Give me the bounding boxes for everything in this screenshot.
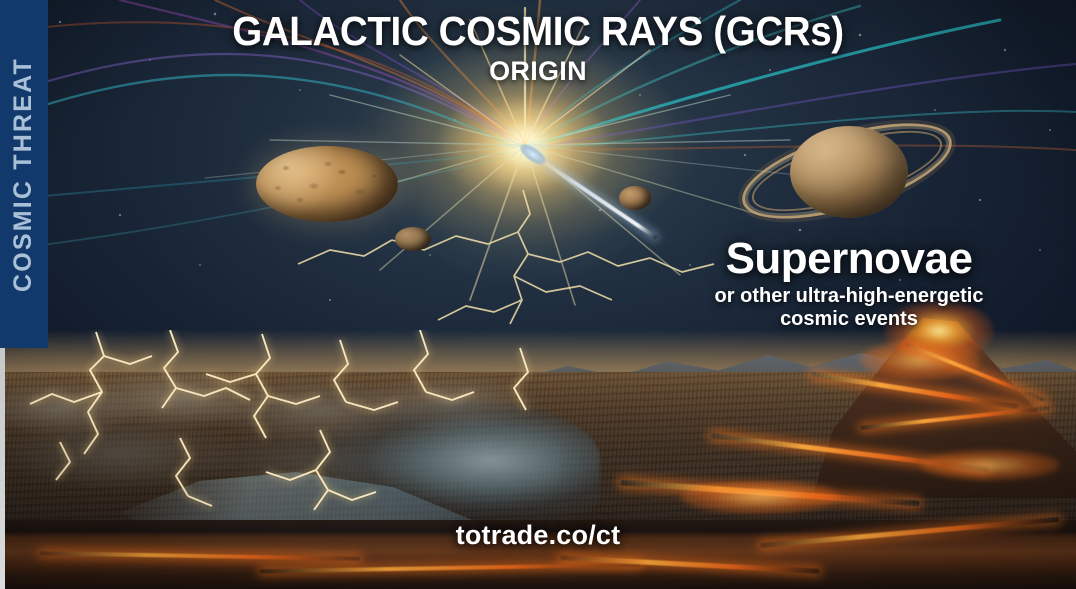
small-moon-left bbox=[395, 227, 431, 251]
callout-line-1: or other ultra-high-energetic bbox=[660, 285, 1038, 309]
url-text: totrade.co/ct bbox=[0, 520, 1076, 551]
callout-block: Supernovae or other ultra-high-energetic… bbox=[660, 236, 1038, 332]
saturn-body bbox=[790, 126, 908, 218]
cratered-moon bbox=[256, 146, 398, 222]
page-subtitle: ORIGIN bbox=[0, 56, 1076, 87]
callout-line-2: cosmic events bbox=[660, 308, 1038, 332]
page-title: GALACTIC COSMIC RAYS (GCRs) bbox=[32, 8, 1043, 55]
moon-craters bbox=[256, 146, 398, 222]
small-moon-right bbox=[619, 186, 651, 210]
saturn-planet bbox=[752, 104, 942, 236]
poster-root: COSMIC THREAT GALACTIC COSMIC RAYS (GCRs… bbox=[0, 0, 1076, 589]
side-banner-label: COSMIC THREAT bbox=[10, 56, 39, 291]
callout-title: Supernovae bbox=[660, 236, 1038, 282]
